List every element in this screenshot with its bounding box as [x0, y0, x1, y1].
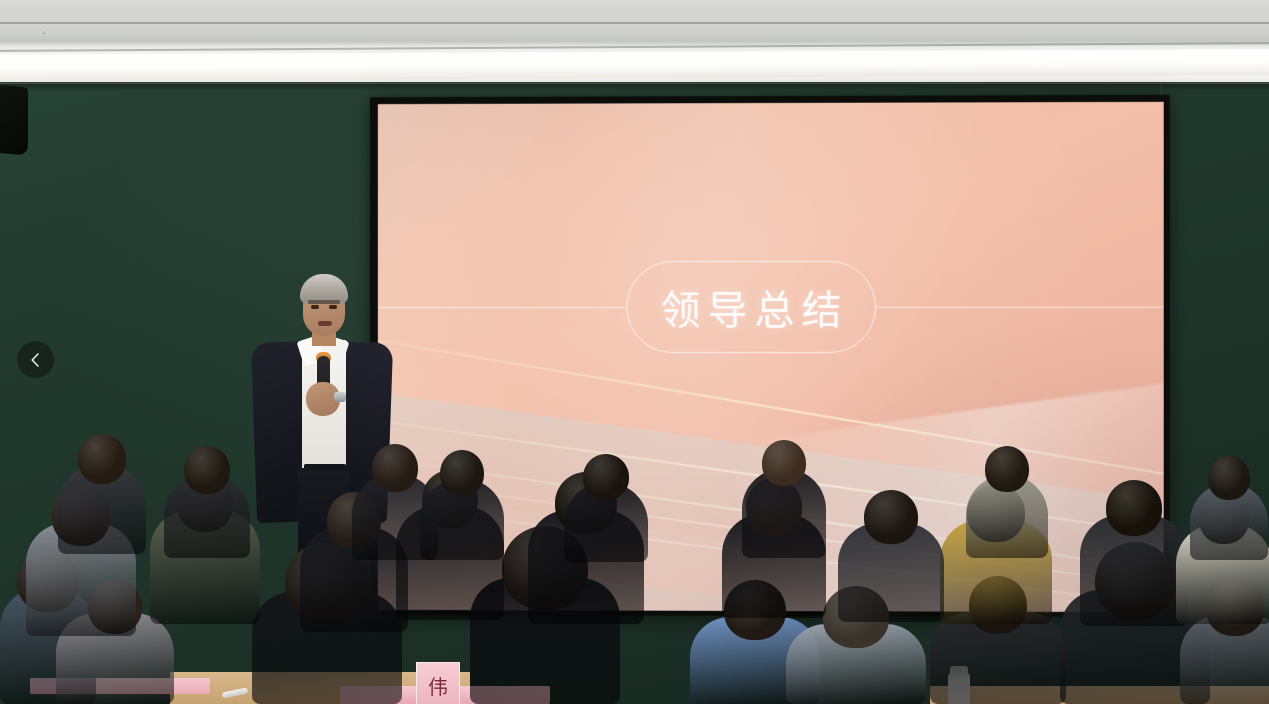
audience-member-head	[78, 434, 126, 484]
chevron-left-icon	[28, 352, 44, 368]
audience-member	[742, 440, 826, 558]
ceiling-screw	[42, 31, 46, 35]
presenter-watch	[334, 392, 346, 402]
audience-member	[838, 490, 944, 622]
audience-member-head	[864, 490, 918, 544]
wall-top-edge	[0, 82, 1269, 91]
presenter-eye-left	[311, 305, 319, 309]
audience-member	[1080, 480, 1188, 626]
audience-member-head	[372, 444, 418, 492]
presenter-brow	[308, 300, 340, 304]
presenter-eye-right	[329, 305, 337, 309]
previous-photo-button[interactable]	[17, 341, 54, 378]
audience-member-head	[762, 440, 806, 486]
audience-member	[58, 434, 146, 554]
presenter-mouth	[318, 321, 332, 326]
ceiling-light-strip	[0, 49, 1269, 81]
audience-member	[164, 446, 250, 558]
audience-member-head	[583, 454, 629, 500]
audience-member-head	[440, 450, 484, 496]
ceiling-seam	[0, 22, 1269, 24]
audience-member	[420, 450, 504, 560]
name-placard: 伟	[416, 662, 460, 704]
audience-member-head	[985, 446, 1029, 492]
audience-member-head	[1106, 480, 1162, 536]
audience-member	[966, 446, 1048, 558]
photo-viewer-stage: 领导总结 伟	[0, 0, 1269, 704]
audience-member	[564, 454, 648, 562]
audience	[0, 430, 1269, 704]
audience-member-head	[184, 446, 230, 494]
audience-member-head	[1208, 456, 1250, 500]
audience-member	[1190, 456, 1268, 560]
ceiling-speaker	[0, 85, 28, 156]
